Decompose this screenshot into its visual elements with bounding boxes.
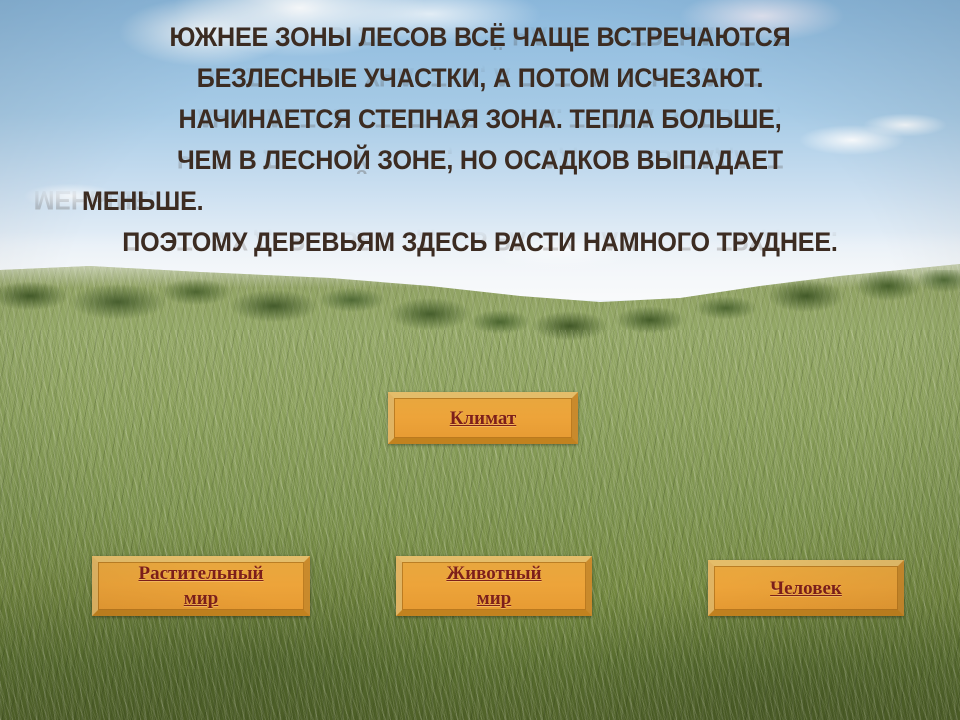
- nav-button-chelovek-label: Человек: [770, 576, 842, 601]
- grass-field-background: [0, 262, 960, 720]
- headline-line-5-text: МЕНЬШЕ.: [82, 186, 204, 217]
- headline-text-block: ЮЖНЕЕ ЗОНЫ ЛЕСОВ ВСЁ ЧАЩЕ ВСТРЕЧАЮТСЯ ЮЖ…: [0, 22, 960, 268]
- headline-line-3-text: НАЧИНАЕТСЯ СТЕПНАЯ ЗОНА. ТЕПЛА БОЛЬШЕ,: [178, 104, 781, 135]
- headline-line-4-text: ЧЕМ В ЛЕСНОЙ ЗОНЕ, НО ОСАДКОВ ВЫПАДАЕТ: [177, 145, 783, 176]
- headline-line-6-text: ПОЭТОМУ ДЕРЕВЬЯМ ЗДЕСЬ РАСТИ НАМНОГО ТРУ…: [122, 227, 837, 258]
- headline-line-1: ЮЖНЕЕ ЗОНЫ ЛЕСОВ ВСЁ ЧАЩЕ ВСТРЕЧАЮТСЯ ЮЖ…: [34, 22, 927, 63]
- headline-line-3: НАЧИНАЕТСЯ СТЕПНАЯ ЗОНА. ТЕПЛА БОЛЬШЕ, Н…: [34, 104, 927, 145]
- headline-line-6: ПОЭТОМУ ДЕРЕВЬЯМ ЗДЕСЬ РАСТИ НАМНОГО ТРУ…: [34, 227, 927, 268]
- presentation-slide: ЮЖНЕЕ ЗОНЫ ЛЕСОВ ВСЁ ЧАЩЕ ВСТРЕЧАЮТСЯ ЮЖ…: [0, 0, 960, 720]
- nav-button-rastitelnyi-mir-label-line1: Растительный: [138, 561, 263, 586]
- headline-line-4: ЧЕМ В ЛЕСНОЙ ЗОНЕ, НО ОСАДКОВ ВЫПАДАЕТ Ч…: [34, 145, 927, 186]
- nav-button-klimat-label: Климат: [450, 406, 517, 431]
- headline-line-2-text: БЕЗЛЕСНЫЕ УЧАСТКИ, А ПОТОМ ИСЧЕЗАЮТ.: [197, 63, 763, 94]
- nav-button-rastitelnyi-mir[interactable]: Растительный мир: [92, 556, 310, 616]
- nav-button-zhivotnyi-mir-label-line1: Животный: [446, 561, 541, 586]
- headline-line-1-text: ЮЖНЕЕ ЗОНЫ ЛЕСОВ ВСЁ ЧАЩЕ ВСТРЕЧАЮТСЯ: [169, 22, 790, 53]
- nav-button-zhivotnyi-mir[interactable]: Животный мир: [396, 556, 592, 616]
- headline-line-5: МЕНЬШЕ. МЕНЬШЕ.: [34, 186, 927, 227]
- nav-button-klimat[interactable]: Климат: [388, 392, 578, 444]
- nav-button-rastitelnyi-mir-label-line2: мир: [184, 586, 218, 611]
- nav-button-zhivotnyi-mir-label-line2: мир: [477, 586, 511, 611]
- headline-line-2: БЕЗЛЕСНЫЕ УЧАСТКИ, А ПОТОМ ИСЧЕЗАЮТ. БЕЗ…: [34, 63, 927, 104]
- nav-button-chelovek[interactable]: Человек: [708, 560, 904, 616]
